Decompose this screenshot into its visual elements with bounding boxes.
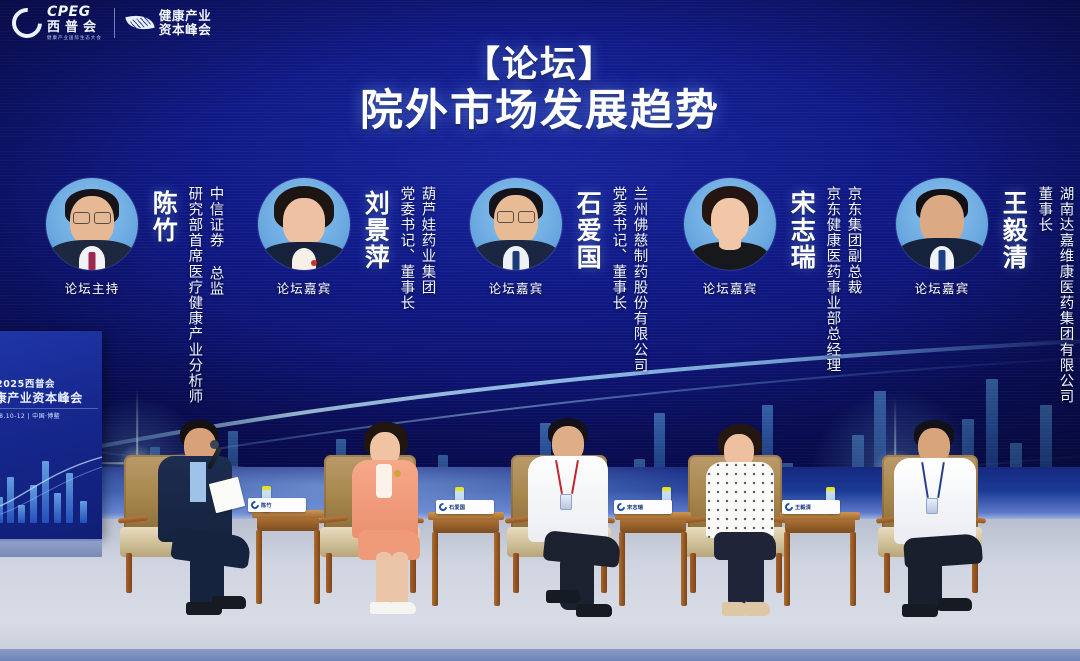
panelist-name-0: 陈竹: [150, 190, 176, 244]
avatar-shi-aiguo: [470, 178, 562, 270]
logo-health-summit: 健康产业 资本峰会: [127, 9, 211, 36]
logo-cpeg-cn: 西普会: [47, 21, 102, 34]
attendee-badge-2: [926, 498, 938, 514]
seated-person-1: [338, 422, 444, 620]
conference-stage-screenshot: CPEG 西普会 健康产业国际生态大会 健康产业 资本峰会 【论坛】 院外市场发…: [0, 0, 1080, 661]
panelist-card-0: 论坛主持 陈竹 研究部首席医疗健康产业分析师 中信证券 总监: [34, 178, 223, 404]
panelist-title-0-line0: 中信证券 总监: [206, 186, 223, 404]
panelist-role-2: 论坛嘉宾: [489, 278, 544, 297]
script-papers: [209, 477, 245, 513]
panelist-title-0-line1: 研究部首席医疗健康产业分析师: [185, 186, 202, 404]
panelist-role-3: 论坛嘉宾: [703, 278, 758, 297]
logo-health-line2: 资本峰会: [159, 23, 211, 37]
panelist-card-1: 论坛嘉宾 刘景萍 党委书记、董事长 葫芦娃药业集团: [246, 178, 435, 311]
podium-base: [0, 539, 102, 557]
panelist-title-1: 党委书记、董事长 葫芦娃药业集团: [393, 186, 435, 311]
panelist-title-3: 京东健康医药事业部总经理 京东集团副总裁: [819, 186, 861, 373]
panelist-name-3: 宋志瑞: [788, 190, 814, 271]
panelist-name-1: 刘景萍: [362, 190, 388, 271]
forum-headline: 【论坛】 院外市场发展趋势: [0, 45, 1080, 136]
panelist-title-4: 董事长 湖南达嘉维康医药集团有限公司: [1031, 186, 1073, 404]
logo-cpeg-en: CPEG: [47, 5, 102, 19]
stage-floor-edge: [0, 649, 1080, 661]
logo-divider: [114, 8, 115, 38]
avatar-liu-jingping: [258, 178, 350, 270]
nameplate-1: 石爱国: [436, 500, 494, 514]
nameplate-text-1: 石爱国: [449, 504, 465, 511]
banner-curve-graphic: [0, 451, 102, 521]
panelist-title-1-line1: 党委书记、董事长: [397, 186, 414, 311]
logo-cpeg: CPEG 西普会 健康产业国际生态大会: [12, 5, 102, 41]
headline-main-line: 院外市场发展趋势: [0, 87, 1080, 136]
seated-person-2: [518, 418, 640, 620]
panelist-title-3-line1: 京东健康医药事业部总经理: [823, 186, 840, 373]
panelist-card-2: 论坛嘉宾 石爱国 党委书记、董事长 兰州佛慈制药股份有限公司: [458, 178, 647, 373]
leaf-icon: [127, 14, 153, 31]
panelist-role-1: 论坛嘉宾: [277, 278, 332, 297]
avatar-wang-yiqing: [896, 178, 988, 270]
panelist-title-2-line0: 兰州佛慈制药股份有限公司: [630, 186, 647, 373]
attendee-badge: [560, 494, 572, 510]
panelist-name-4: 王毅清: [1000, 190, 1026, 271]
panelist-role-4: 论坛嘉宾: [915, 278, 970, 297]
logo-cpeg-subtitle: 健康产业国际生态大会: [47, 37, 102, 41]
panelist-title-3-line0: 京东集团副总裁: [844, 186, 861, 373]
headline-bracket-line: 【论坛】: [0, 45, 1080, 85]
logo-health-line1: 健康产业: [159, 9, 211, 23]
avatar-song-zhirui: [684, 178, 776, 270]
panelist-role-0: 论坛主持: [65, 278, 120, 297]
seated-person-3: [694, 424, 798, 620]
cpeg-ring-icon: [6, 2, 48, 44]
panelist-name-2: 石爱国: [574, 190, 600, 271]
panelist-strip: 论坛主持 陈竹 研究部首席医疗健康产业分析师 中信证券 总监 论坛嘉宾 刘景萍: [0, 178, 1080, 433]
panelist-title-2: 党委书记、董事长 兰州佛慈制药股份有限公司: [605, 186, 647, 373]
event-logo-bar: CPEG 西普会 健康产业国际生态大会 健康产业 资本峰会: [0, 0, 225, 47]
avatar-chen-zhu: [46, 178, 138, 270]
panelist-card-3: 论坛嘉宾 宋志瑞 京东健康医药事业部总经理 京东集团副总裁: [672, 178, 861, 373]
panelist-card-4: 论坛嘉宾 王毅清 董事长 湖南达嘉维康医药集团有限公司: [884, 178, 1073, 404]
panelist-title-4-line0: 湖南达嘉维康医药集团有限公司: [1056, 186, 1073, 404]
panelist-title-1-line0: 葫芦娃药业集团: [418, 186, 435, 311]
panelist-title-0: 研究部首席医疗健康产业分析师 中信证券 总监: [181, 186, 223, 404]
panelist-title-2-line1: 党委书记、董事长: [609, 186, 626, 373]
seated-person-4: [886, 420, 1004, 620]
seated-person-moderator: [150, 420, 270, 620]
panelist-title-4-line1: 董事长: [1035, 186, 1052, 404]
